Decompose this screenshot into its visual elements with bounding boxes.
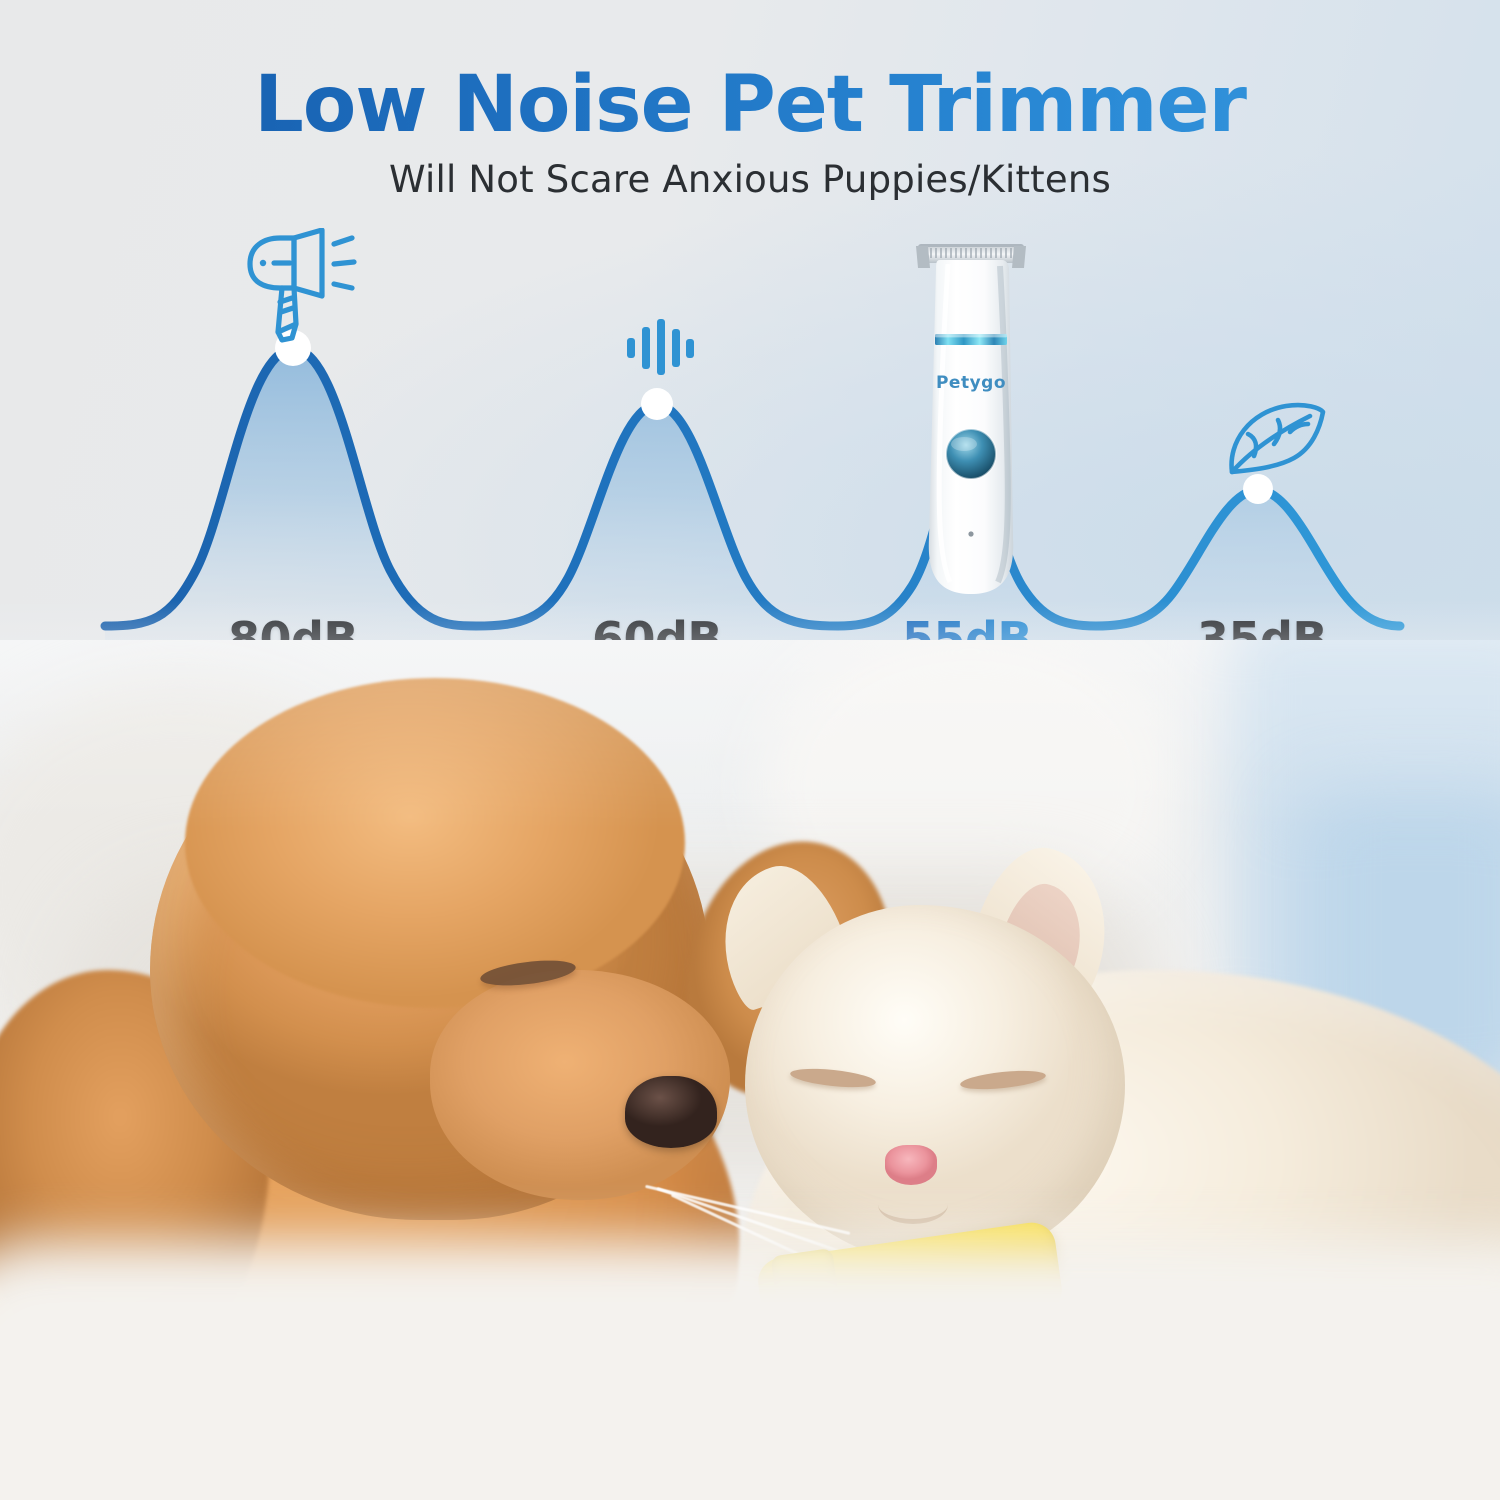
product-infographic: Low Noise Pet Trimmer Will Not Scare Anx…	[0, 0, 1500, 1500]
cat-mouth	[878, 1185, 948, 1224]
infographic-panel: Low Noise Pet Trimmer Will Not Scare Anx…	[0, 0, 1500, 700]
sound-wave-icon	[625, 318, 695, 376]
trimmer-led-indicator	[968, 531, 973, 536]
trimmer-brand-label: Petygo	[936, 373, 1006, 393]
page-title: Low Noise Pet Trimmer	[0, 60, 1500, 150]
dog-nose	[625, 1076, 717, 1148]
pet-photo	[0, 640, 1500, 1500]
cat-nose	[885, 1145, 937, 1185]
leaf-icon	[1224, 398, 1328, 480]
hair-dryer-icon	[238, 228, 362, 346]
page-subtitle: Will Not Scare Anxious Puppies/Kittens	[0, 158, 1500, 201]
pet-trimmer-product: Petygo	[912, 238, 1030, 600]
peak-dot-60db	[641, 388, 673, 420]
dog-head-fluff	[185, 678, 685, 1008]
foreground-blanket	[0, 1240, 1500, 1500]
